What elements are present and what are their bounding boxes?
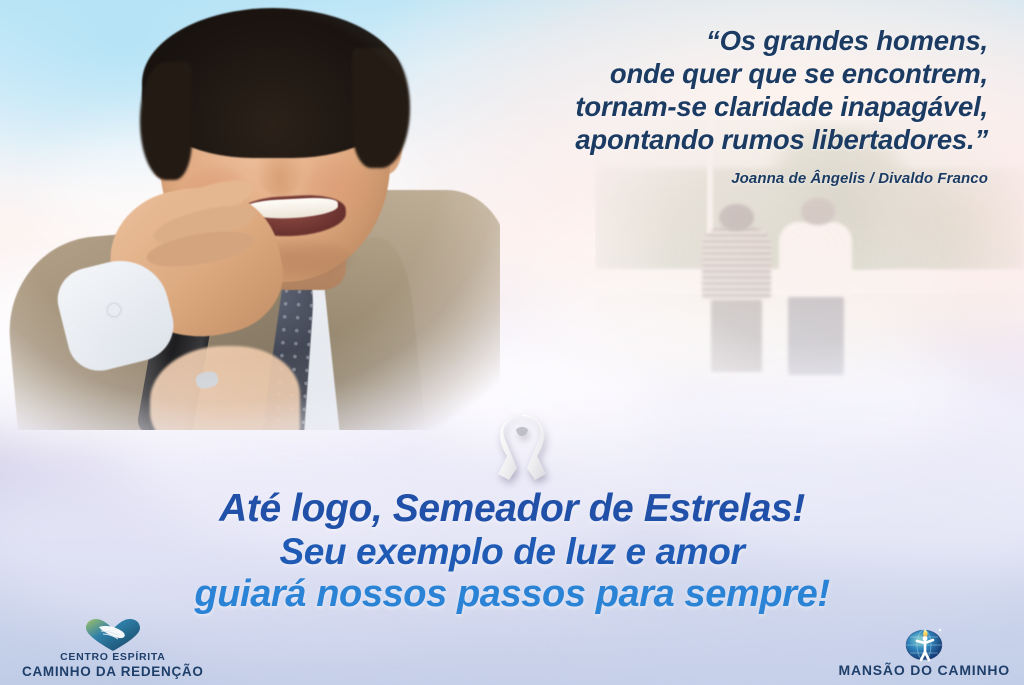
logo-centro-espirita: CENTRO ESPÍRITA CAMINHO DA REDENÇÃO [22,618,204,679]
quote-line-1: “Os grandes homens, [428,24,988,57]
logo-line-1: MANSÃO DO CAMINHO [839,663,1010,679]
quote-attribution: Joanna de Ângelis / Divaldo Franco [428,170,988,187]
logo-line-1: CENTRO ESPÍRITA [22,652,204,664]
headline-line-1: Até logo, Semeador de Estrelas! [0,487,1024,531]
headline-line-2: Seu exemplo de luz e amor [0,531,1024,573]
quote-line-3: tornam-se claridade inapagável, [428,90,988,123]
quote-text: “Os grandes homens, onde quer que se enc… [428,24,988,156]
logo-line-2: CAMINHO DA REDENÇÃO [22,664,204,679]
logo-centro-espirita-text: CENTRO ESPÍRITA CAMINHO DA REDENÇÃO [22,652,204,679]
divaldo-franco-portrait [0,0,500,430]
quote-line-4: apontando rumos libertadores.” [428,123,988,156]
heart-hand-icon [82,618,144,652]
logo-mansao-text: MANSÃO DO CAMINHO [839,663,1010,679]
two-people-walking-photo [595,120,1024,420]
white-mourning-ribbon-icon [487,410,557,488]
logo-mansao-do-caminho: MANSÃO DO CAMINHO [839,623,1010,679]
quote-line-2: onde quer que se encontrem, [428,57,988,90]
memorial-poster: “Os grandes homens, onde quer que se enc… [0,0,1024,685]
headline-line-3: guiará nossos passos para sempre! [0,573,1024,616]
headline-block: Até logo, Semeador de Estrelas! Seu exem… [0,487,1024,616]
globe-figure-torch-icon [900,623,948,663]
